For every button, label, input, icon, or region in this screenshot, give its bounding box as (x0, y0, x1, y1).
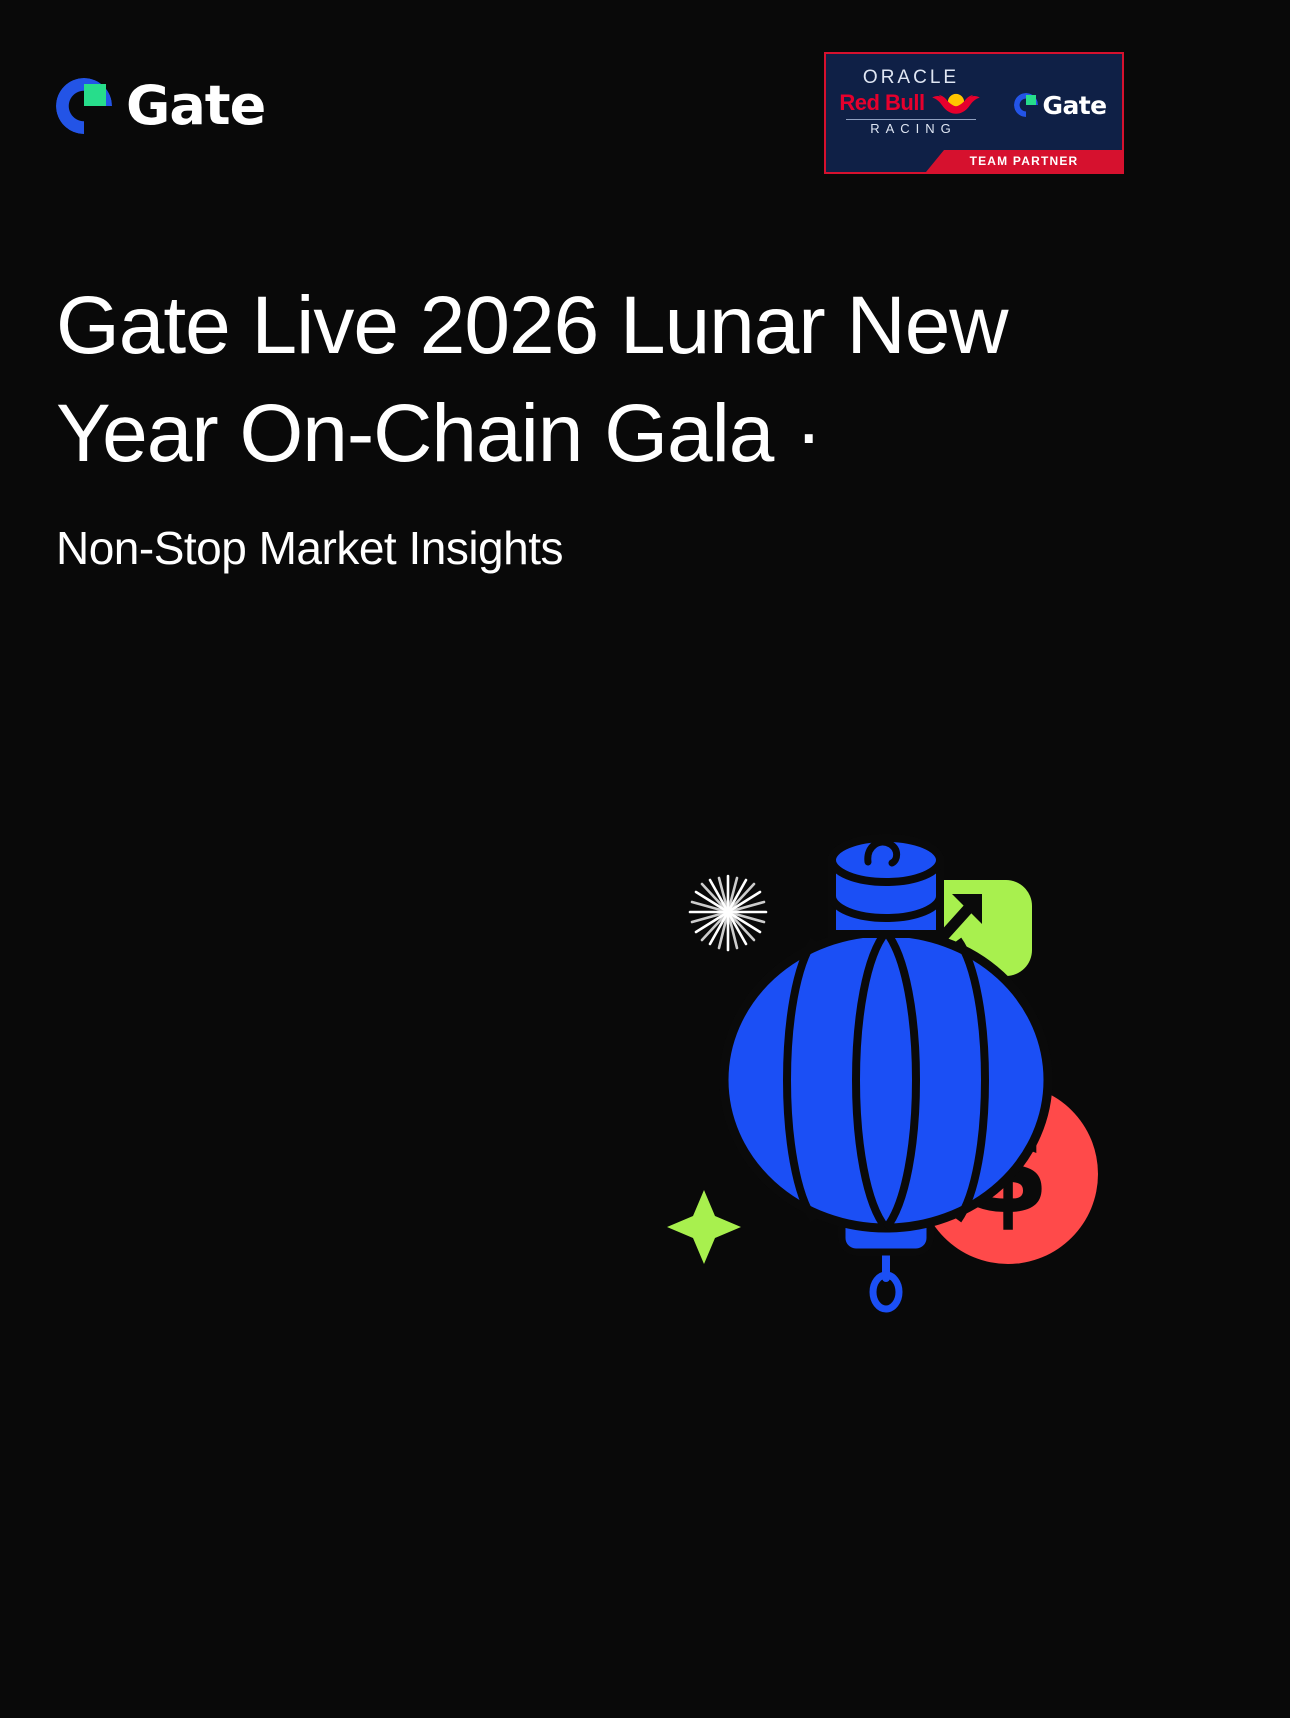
sparkle-icon (667, 1190, 741, 1264)
gate-wordmark: Gate (126, 79, 265, 133)
partner-badge[interactable]: ORACLE Red Bull RACING (824, 52, 1124, 174)
team-partner-banner: TEAM PARTNER (926, 150, 1122, 172)
gate-wordmark-small: Gate (1043, 93, 1107, 118)
gate-logo[interactable]: Gate (56, 78, 265, 134)
red-bull-label: Red Bull (839, 92, 924, 114)
poster-page: Gate ORACLE Red Bull RACING (0, 0, 1290, 1718)
gate-square-shape (84, 84, 106, 106)
lunar-new-year-lantern-illustration: $ (636, 820, 1136, 1320)
gate-logo-icon (56, 78, 112, 134)
page-subtitle: Non-Stop Market Insights (56, 518, 563, 578)
badge-divider (846, 119, 976, 120)
gate-square-shape-small (1026, 95, 1036, 105)
page-title: Gate Live 2026 Lunar New Year On-Chain G… (56, 272, 1016, 488)
racing-label: RACING (836, 122, 986, 135)
gate-logo-icon-small (1014, 93, 1038, 117)
red-bull-icon (929, 90, 983, 116)
oracle-label: ORACLE (836, 68, 986, 87)
firework-icon (690, 876, 766, 950)
